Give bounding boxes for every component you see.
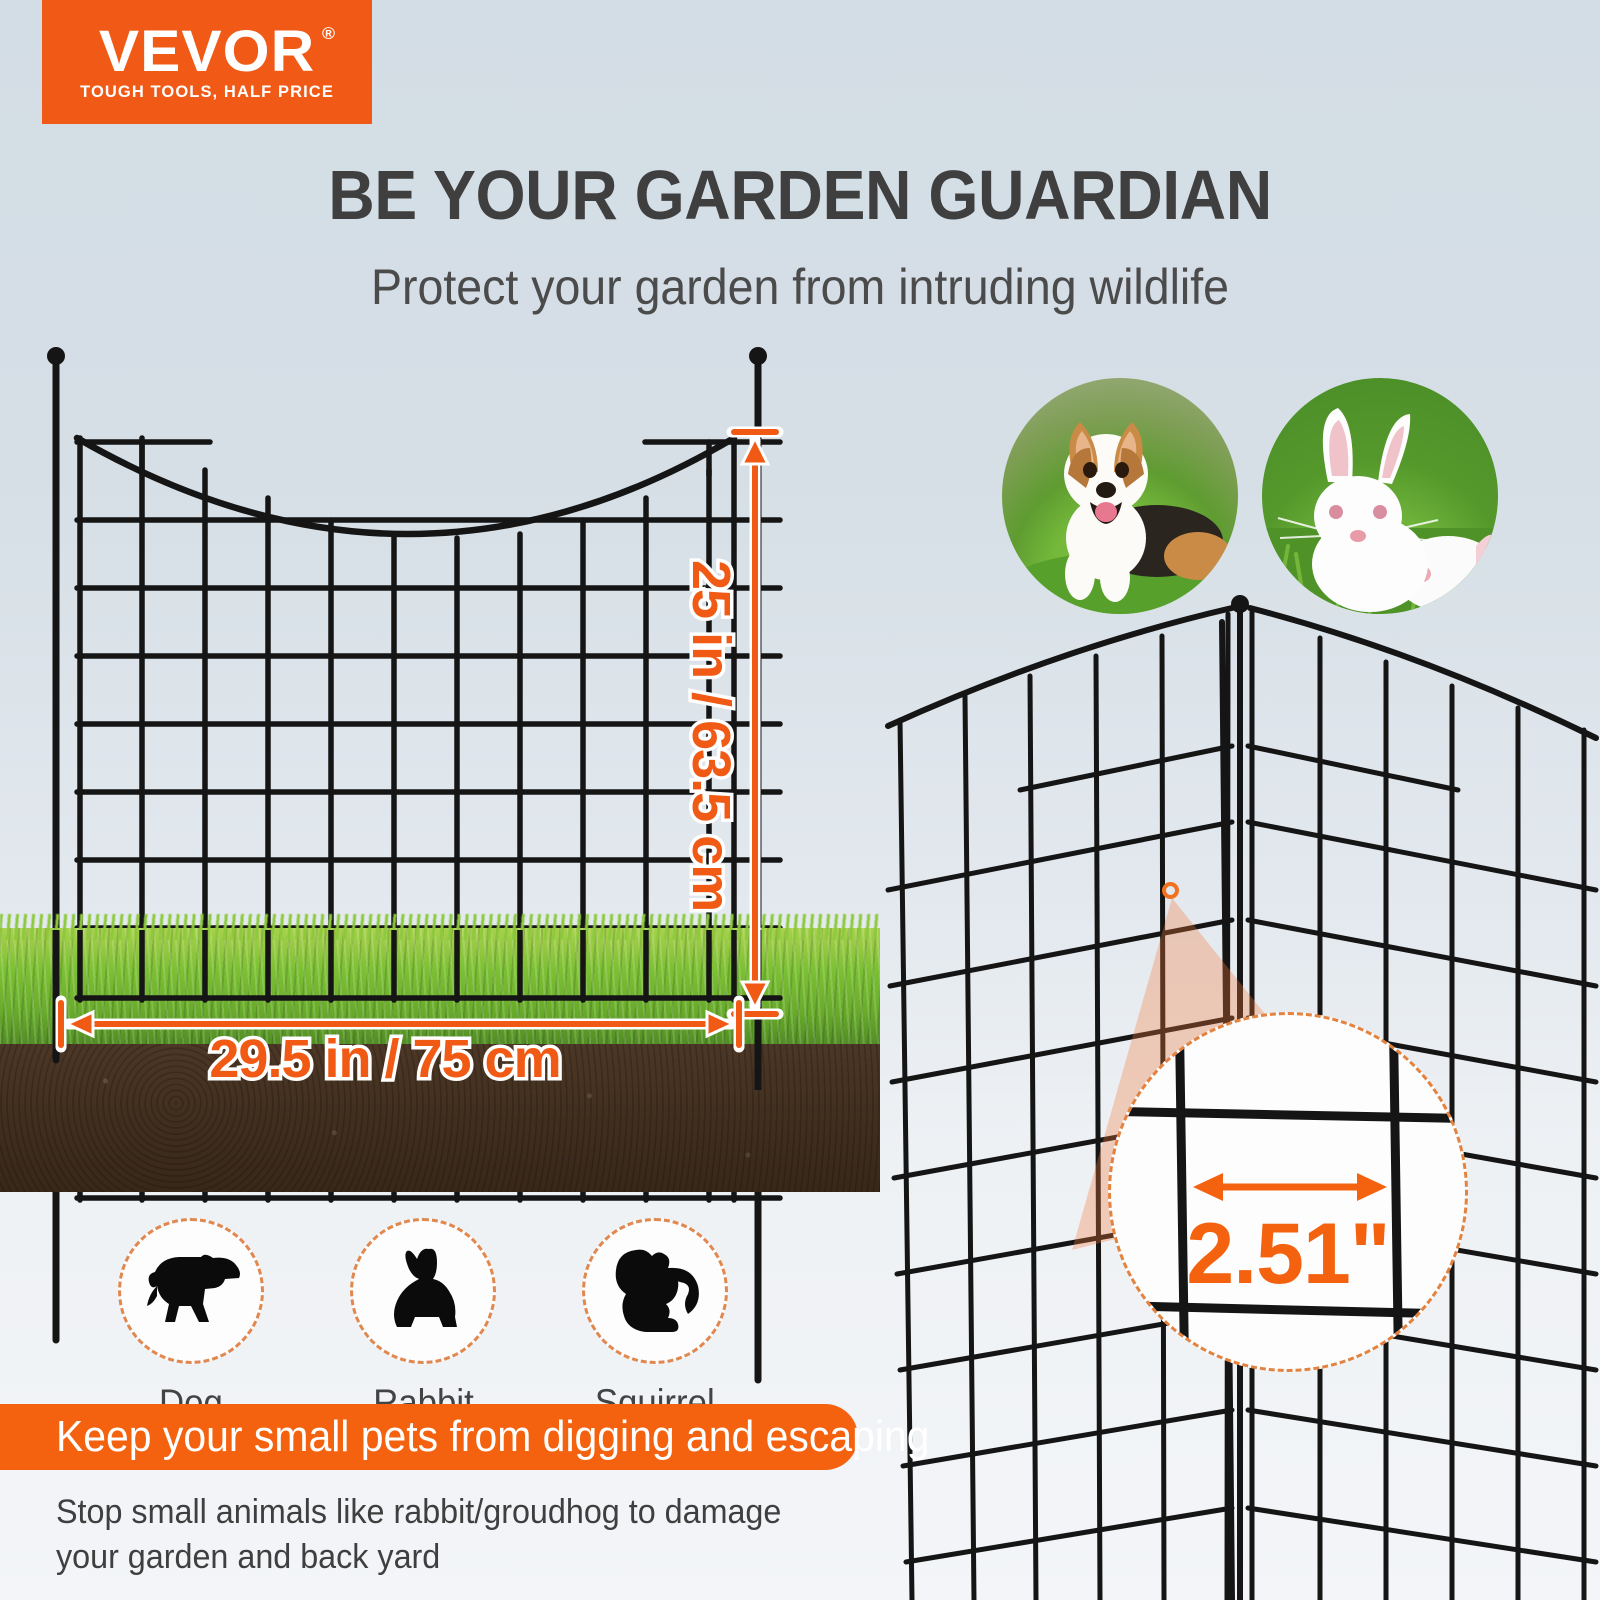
- mesh-size-magnifier: 2.51": [1108, 1012, 1468, 1372]
- white-rabbits-photo: [1262, 378, 1498, 614]
- highlight-banner-text: Keep your small pets from digging and es…: [56, 1415, 929, 1459]
- rabbit-icon-circle: [350, 1218, 496, 1364]
- width-dimension-label: 29.5 in / 75 cm: [0, 1028, 770, 1090]
- stake-finial-left: [47, 347, 65, 365]
- feature-rabbit: Rabbit: [350, 1218, 496, 1421]
- squirrel-icon: [606, 1244, 704, 1338]
- page-subheadline: Protect your garden from intruding wildl…: [56, 262, 1544, 312]
- corgi-dog-photo: [1002, 378, 1238, 614]
- rabbit-icon: [377, 1245, 469, 1337]
- brand-tagline: TOUGH TOOLS, HALF PRICE: [80, 83, 334, 102]
- target-animals-row: Dog Rabbit Squirrel: [118, 1218, 728, 1421]
- footer-description-line1: Stop small animals like rabbit/groudhog …: [56, 1490, 781, 1535]
- footer-description-line2: your garden and back yard: [56, 1535, 781, 1580]
- dog-icon: [139, 1248, 243, 1334]
- highlight-banner: Keep your small pets from digging and es…: [0, 1404, 858, 1470]
- stake-finial-center: [1231, 595, 1249, 613]
- product-infographic: VEVOR® TOUGH TOOLS, HALF PRICE BE YOUR G…: [0, 0, 1600, 1600]
- footer-description: Stop small animals like rabbit/groudhog …: [56, 1490, 781, 1580]
- page-headline: BE YOUR GARDEN GUARDIAN: [64, 160, 1536, 230]
- dog-icon-circle: [118, 1218, 264, 1364]
- vevor-logo: VEVOR® TOUGH TOOLS, HALF PRICE: [42, 0, 372, 124]
- mesh-size-label: 2.51": [1111, 1211, 1465, 1297]
- squirrel-icon-circle: [582, 1218, 728, 1364]
- feature-squirrel: Squirrel: [582, 1218, 728, 1421]
- mesh-marker-dot: [1162, 882, 1179, 899]
- height-dimension-label: 25 in / 63.5 cm: [680, 560, 742, 880]
- stake-finial-right: [749, 347, 767, 365]
- feature-dog: Dog: [118, 1218, 264, 1421]
- registered-mark: ®: [322, 25, 336, 42]
- brand-wordmark: VEVOR®: [99, 23, 315, 81]
